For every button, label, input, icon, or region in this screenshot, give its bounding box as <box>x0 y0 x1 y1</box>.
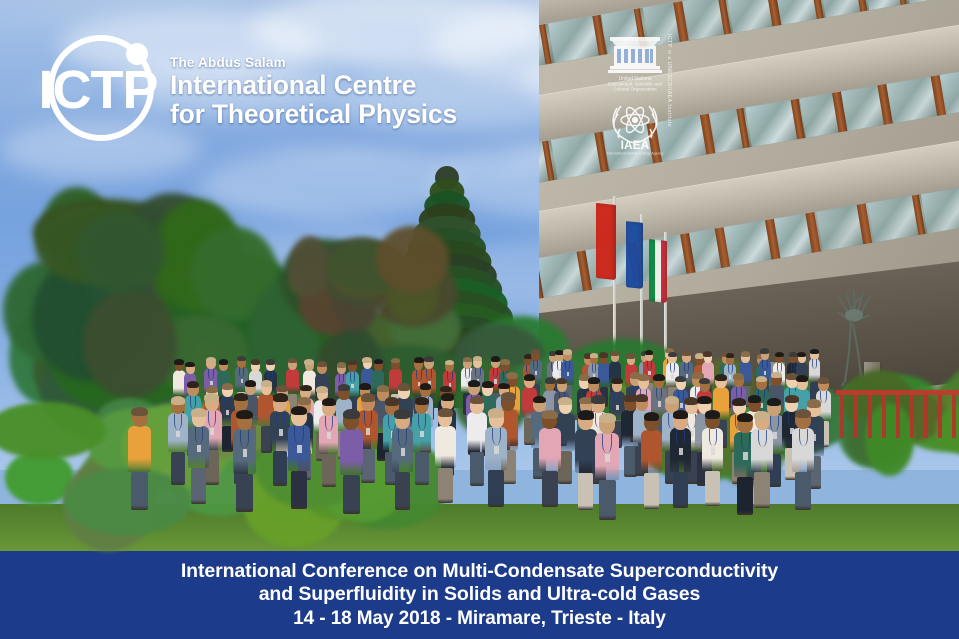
participant-legs <box>438 468 453 504</box>
participant-hair <box>185 362 194 367</box>
participant <box>288 407 315 512</box>
participant <box>702 411 727 508</box>
participant-hair <box>441 393 454 401</box>
participant-lanyard <box>465 368 470 378</box>
participant-hair <box>531 349 540 354</box>
participant <box>435 409 460 505</box>
participant-badge <box>401 448 405 456</box>
participant-hair <box>498 383 509 390</box>
participant-hair <box>796 375 808 382</box>
participant <box>340 410 367 516</box>
participant-hair <box>337 362 346 368</box>
participant <box>485 409 511 509</box>
participant-hair <box>322 398 336 406</box>
participant-torso <box>435 426 456 468</box>
participant-hair <box>807 399 821 407</box>
participant-hair <box>611 378 622 385</box>
participant-badge <box>176 431 180 438</box>
participant-hair <box>797 352 806 357</box>
building-window <box>814 205 863 252</box>
participant-legs <box>236 474 252 512</box>
unesco-subtitle-3: Cultural Organization <box>613 87 657 92</box>
participant-badge <box>605 454 610 462</box>
participant-badge <box>658 401 661 406</box>
participant-lanyard <box>812 359 817 368</box>
participant-lanyard <box>208 369 214 380</box>
participant-hair <box>588 377 600 384</box>
participant-hair <box>206 357 216 363</box>
participant-hair <box>556 378 567 384</box>
participant-legs <box>171 452 185 485</box>
broadleaf-tree <box>76 212 165 293</box>
participant-hair <box>291 406 308 416</box>
participant-badge <box>366 428 370 435</box>
participant-hair <box>374 359 383 364</box>
participant-hair <box>578 410 594 419</box>
participant-badge <box>297 445 302 453</box>
participant-badge <box>711 447 715 454</box>
participant-hair <box>810 349 819 354</box>
participant-hair <box>675 376 686 383</box>
participant-hair <box>348 360 358 366</box>
participant-hair <box>206 386 218 393</box>
participant-hair <box>204 393 219 402</box>
participant-hair <box>818 377 829 384</box>
participant-lanyard <box>758 430 767 447</box>
participant-badge <box>760 448 764 456</box>
participant-legs <box>599 480 616 520</box>
participant-hair <box>533 396 546 404</box>
ictp-circular-atom-logo: ICTP <box>36 26 166 146</box>
participant-hair <box>767 398 781 406</box>
participant-badge <box>327 432 331 439</box>
participant-lanyard <box>728 364 733 374</box>
participant-hair <box>398 383 410 390</box>
participant-hair <box>391 358 400 364</box>
participant-hair <box>174 359 183 365</box>
building-window <box>682 0 725 41</box>
building-window <box>866 196 919 243</box>
participant-hair <box>610 351 619 356</box>
participant-legs <box>795 472 811 510</box>
participant-hair <box>599 413 616 423</box>
flag-red <box>596 203 616 280</box>
participant-hair <box>635 394 648 402</box>
participant-legs <box>273 451 288 486</box>
participant-hair <box>775 352 784 357</box>
participant-lanyard <box>276 412 285 428</box>
participant <box>233 411 259 514</box>
participant-hair <box>394 409 410 418</box>
participant-hair <box>362 357 372 363</box>
participant-hair <box>304 359 314 365</box>
participant-hair <box>760 348 769 353</box>
participant-hair <box>420 383 431 390</box>
participant-legs <box>470 452 484 486</box>
participant-badge <box>226 410 229 415</box>
participant-hair <box>501 392 516 401</box>
participant-hair <box>219 359 229 365</box>
banner-line-3: 14 - 18 May 2018 - Miramare, Trieste - I… <box>293 607 666 631</box>
participant-hair <box>288 358 297 364</box>
building-window <box>921 188 959 234</box>
participant-hair <box>482 381 494 388</box>
participant <box>670 411 696 510</box>
participant <box>128 408 155 513</box>
broadleaf-tree <box>83 289 177 399</box>
participant-hair <box>438 408 453 417</box>
participant-hair <box>506 372 518 379</box>
participant-hair <box>673 410 689 419</box>
participant-badge <box>764 371 766 375</box>
participant-badge <box>420 431 424 438</box>
participant-lanyard <box>325 416 333 432</box>
iaea-subtitle: International Atomic Energy Agency <box>607 152 664 156</box>
participant-lanyard <box>762 360 767 370</box>
participant-hair <box>682 351 691 356</box>
participant-badge <box>679 448 683 456</box>
participant-lanyard <box>195 427 204 444</box>
participant-hair <box>591 395 605 403</box>
participant-hair <box>756 376 767 383</box>
participant-torso <box>467 412 487 452</box>
participant-hair <box>726 353 735 358</box>
building-window <box>745 100 798 147</box>
participant-hair <box>236 410 252 420</box>
building-window <box>548 16 599 63</box>
participant-hair <box>359 383 370 390</box>
participant-hair <box>440 386 451 393</box>
participant-hair <box>599 352 608 357</box>
participant-hair <box>563 349 572 354</box>
participant <box>539 411 564 509</box>
building-window <box>841 85 884 131</box>
participant-legs <box>395 472 411 509</box>
unesco-temple-logo: United Nations Educational, Scientific a… <box>604 30 666 92</box>
participant-hair <box>785 395 799 403</box>
participant-hair <box>470 396 484 404</box>
participant <box>188 409 213 506</box>
flag-italy-tricolour <box>649 239 667 303</box>
participant-lanyard <box>647 361 652 370</box>
participant-lanyard <box>418 414 426 429</box>
participant-hair <box>754 411 770 420</box>
participant-hair <box>251 359 261 365</box>
participant-lanyard <box>475 368 480 378</box>
participant-hair <box>697 396 712 405</box>
unesco-iaea-vertical-note: ICTP is a UNESCO/IAEA Institute <box>666 34 672 127</box>
participant-hair <box>524 374 535 381</box>
participant-torso <box>128 426 151 472</box>
participant-hair <box>795 409 811 419</box>
participant-legs <box>673 472 689 509</box>
participant-torso <box>340 429 363 475</box>
participant-hair <box>626 353 635 358</box>
conference-poster: ICTP The Abdus Salam International Centr… <box>0 0 959 639</box>
participant <box>392 410 418 511</box>
participant-hair <box>237 356 246 361</box>
red-railing-top <box>836 390 959 395</box>
participant-legs <box>542 471 557 507</box>
participant-hair <box>187 381 199 388</box>
participant-hair <box>266 359 275 364</box>
participant-hair <box>245 380 256 387</box>
participant-lanyard <box>294 426 304 444</box>
participant-hair <box>665 396 679 404</box>
participant-badge <box>243 449 247 457</box>
copper-tree <box>376 226 449 293</box>
participant-lanyard <box>736 387 742 399</box>
participant-lanyard <box>339 374 344 384</box>
participant-hair <box>234 393 249 402</box>
ictp-line-abdus-salam: The Abdus Salam <box>170 55 457 71</box>
ictp-wordmark: The Abdus Salam International Centre for… <box>170 55 457 129</box>
participant-legs <box>578 473 594 510</box>
participant-badge <box>743 452 748 460</box>
participant-hair <box>558 397 572 405</box>
participant-legs <box>191 468 206 504</box>
participant-hair <box>317 361 327 367</box>
participant-badge <box>567 372 570 376</box>
participant-lanyard <box>676 429 685 446</box>
participant-hair <box>261 380 273 387</box>
participant-torso <box>641 430 662 473</box>
participant-hair <box>699 378 710 384</box>
participant-hair <box>273 393 288 402</box>
participant-hair <box>298 397 311 405</box>
participant-legs <box>291 471 307 510</box>
participant-hair <box>488 408 504 417</box>
participant-hair <box>343 409 360 419</box>
participant-legs <box>343 475 360 514</box>
participant-badge <box>210 381 213 386</box>
participant-hair <box>638 374 650 381</box>
participant-hair <box>415 397 429 405</box>
participant-torso <box>539 428 560 471</box>
iaea-atom-laurel-logo: IAEA International Atomic Energy Agency <box>604 96 666 156</box>
participant-hair <box>653 374 664 381</box>
participant-hair <box>191 408 206 417</box>
participant-lanyard <box>174 414 182 430</box>
participant-hair <box>542 410 558 419</box>
participant-lanyard <box>492 428 501 445</box>
participant-hair <box>715 374 727 381</box>
participant <box>792 410 818 512</box>
participant <box>751 412 776 511</box>
building-window <box>539 252 584 298</box>
participant-lanyard <box>416 370 422 381</box>
participant-hair <box>171 396 185 404</box>
participant-badge <box>814 370 816 374</box>
iaea-acronym: IAEA <box>621 138 650 152</box>
participant-legs <box>754 472 769 508</box>
participant-hair <box>703 351 712 356</box>
participant-hair <box>500 359 510 365</box>
participant-hair <box>748 395 762 403</box>
building-window <box>886 77 937 124</box>
participant-hair <box>385 397 399 405</box>
participant-badge <box>197 445 201 452</box>
red-railing <box>840 392 959 438</box>
banner-line-2: and Superfluidity in Solids and Ultra-co… <box>259 583 701 607</box>
participant-legs <box>705 471 720 507</box>
copper-tree <box>289 236 330 298</box>
participant-hair <box>644 412 660 421</box>
ictp-line-international-centre: International Centre <box>170 71 457 100</box>
participant-hair <box>668 352 677 357</box>
conference-title-banner: International Conference on Multi-Conden… <box>0 551 959 639</box>
participant-hair <box>131 407 148 417</box>
participant <box>641 413 666 511</box>
participant <box>595 414 623 522</box>
participant-torso <box>575 429 597 473</box>
participant-hair <box>705 410 720 419</box>
participant-hair <box>276 385 288 392</box>
participant-lanyard <box>741 433 750 451</box>
flag-blue <box>626 221 643 289</box>
participant-badge <box>279 429 283 436</box>
participant-badge <box>801 448 805 456</box>
participant-hair <box>445 360 454 366</box>
participant-lanyard <box>447 371 452 381</box>
participant-hair <box>300 385 311 392</box>
participant-hair <box>361 393 375 401</box>
banner-line-1: International Conference on Multi-Conden… <box>181 560 778 584</box>
participant-hair <box>222 383 233 390</box>
participant-legs <box>644 473 659 509</box>
participant-legs <box>322 454 336 487</box>
ictp-logo-letters: ICTP <box>38 60 157 120</box>
building-window <box>724 220 771 266</box>
participant-hair <box>377 385 389 392</box>
participant-hair <box>645 350 654 355</box>
participant-hair <box>732 398 746 406</box>
participant-hair <box>741 351 750 356</box>
participant-hair <box>316 386 328 393</box>
participant-hair <box>338 384 350 391</box>
participant-hair <box>424 356 434 362</box>
participant-hair <box>733 373 744 379</box>
ictp-line-theoretical-physics: for Theoretical Physics <box>170 100 457 129</box>
participant-badge <box>616 405 619 410</box>
participant-legs <box>488 470 504 507</box>
participant-hair <box>473 356 482 361</box>
participant-hair <box>771 372 782 378</box>
building-window <box>550 133 601 180</box>
participant-badge <box>494 446 498 454</box>
participant-legs <box>131 472 147 511</box>
